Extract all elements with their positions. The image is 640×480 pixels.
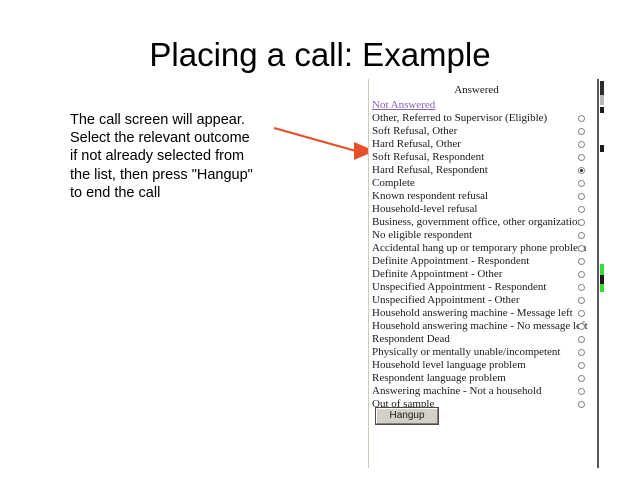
- instruction-line: the list, then press "Hangup": [70, 166, 285, 184]
- outcome-label: Definite Appointment - Other: [372, 268, 502, 281]
- outcome-row[interactable]: Household answering machine - Message le…: [369, 307, 598, 320]
- outcome-row[interactable]: Soft Refusal, Respondent: [369, 151, 598, 164]
- page-title: Placing a call: Example: [0, 36, 640, 74]
- scrollbar-mark: [600, 107, 604, 113]
- outcome-radio-button[interactable]: [578, 206, 585, 213]
- outcome-radio-button[interactable]: [578, 245, 585, 252]
- outcome-radio-button[interactable]: [578, 323, 585, 330]
- scrollbar-mark: [600, 145, 604, 152]
- outcome-row[interactable]: Respondent Dead: [369, 333, 598, 346]
- outcome-label: Accidental hang up or temporary phone pr…: [372, 242, 586, 255]
- outcome-radio-button[interactable]: [578, 232, 585, 239]
- outcome-radio-button[interactable]: [578, 128, 585, 135]
- outcome-radio-button[interactable]: [578, 336, 585, 343]
- outcome-radio-button[interactable]: [578, 388, 585, 395]
- outcome-row[interactable]: Hard Refusal, Respondent: [369, 164, 598, 177]
- outcome-row[interactable]: Unspecified Appointment - Respondent: [369, 281, 598, 294]
- outcome-label: Answering machine - Not a household: [372, 385, 542, 398]
- outcome-radio-button[interactable]: [578, 180, 585, 187]
- outcome-label: Household-level refusal: [372, 203, 477, 216]
- outcome-radio-button[interactable]: [578, 401, 585, 408]
- scrollbar-mark: [600, 95, 604, 105]
- outcome-label: Definite Appointment - Respondent: [372, 255, 529, 268]
- outcome-row[interactable]: Business, government office, other organ…: [369, 216, 598, 229]
- outcome-label: Respondent Dead: [372, 333, 450, 346]
- outcome-option-list[interactable]: Other, Referred to Supervisor (Eligible)…: [369, 112, 598, 411]
- outcome-radio-button[interactable]: [578, 297, 585, 304]
- instruction-line: to end the call: [70, 184, 285, 202]
- outcome-label: Unspecified Appointment - Respondent: [372, 281, 546, 294]
- outcome-radio-button[interactable]: [578, 193, 585, 200]
- scrollbar-mark: [600, 81, 604, 95]
- outcome-label: Known respondent refusal: [372, 190, 488, 203]
- outcome-row[interactable]: Definite Appointment - Other: [369, 268, 598, 281]
- outcome-label: Hard Refusal, Respondent: [372, 164, 488, 177]
- outcome-radio-button[interactable]: [578, 349, 585, 356]
- outcome-radio-button[interactable]: [578, 219, 585, 226]
- instruction-text-block: The call screen will appear. Select the …: [70, 111, 285, 202]
- outcome-row[interactable]: Known respondent refusal: [369, 190, 598, 203]
- outcome-row[interactable]: Answering machine - Not a household: [369, 385, 598, 398]
- outcome-label: Respondent language problem: [372, 372, 506, 385]
- outcome-radio-button[interactable]: [578, 362, 585, 369]
- outcome-row[interactable]: Hard Refusal, Other: [369, 138, 598, 151]
- outcome-label: Soft Refusal, Respondent: [372, 151, 484, 164]
- presentation-slide: Placing a call: Example The call screen …: [0, 0, 640, 480]
- outcome-row[interactable]: Physically or mentally unable/incompeten…: [369, 346, 598, 359]
- outcome-radio-button[interactable]: [578, 141, 585, 148]
- outcome-radio-button[interactable]: [578, 258, 585, 265]
- instruction-line: if not already selected from: [70, 147, 285, 165]
- call-screen-screenshot: Answered Not Answered Other, Referred to…: [368, 79, 599, 468]
- scrollbar-mark: [600, 284, 604, 292]
- scrollbar-mark: [600, 264, 604, 275]
- instruction-line: The call screen will appear.: [70, 111, 285, 129]
- outcome-label: Soft Refusal, Other: [372, 125, 457, 138]
- outcome-radio-button[interactable]: [578, 310, 585, 317]
- outcome-radio-button[interactable]: [578, 167, 585, 174]
- outcome-row[interactable]: Respondent language problem: [369, 372, 598, 385]
- outcome-label: Complete: [372, 177, 415, 190]
- outcome-radio-button[interactable]: [578, 154, 585, 161]
- outcome-label: Unspecified Appointment - Other: [372, 294, 520, 307]
- outcome-row[interactable]: Other, Referred to Supervisor (Eligible): [369, 112, 598, 125]
- outcome-label: Household answering machine - No message…: [372, 320, 588, 333]
- outcome-label: Physically or mentally unable/incompeten…: [372, 346, 560, 359]
- outcome-radio-button[interactable]: [578, 271, 585, 278]
- outcome-radio-button[interactable]: [578, 375, 585, 382]
- outcome-label: Other, Referred to Supervisor (Eligible): [372, 112, 547, 125]
- outcome-row[interactable]: Household level language problem: [369, 359, 598, 372]
- outcome-row[interactable]: No eligible respondent: [369, 229, 598, 242]
- outcome-row[interactable]: Complete: [369, 177, 598, 190]
- scrollbar-mark: [600, 275, 604, 284]
- outcome-row[interactable]: Accidental hang up or temporary phone pr…: [369, 242, 598, 255]
- not-answered-link[interactable]: Not Answered: [372, 99, 435, 111]
- outcome-label: Business, government office, other organ…: [372, 216, 583, 229]
- outcome-label: Household level language problem: [372, 359, 526, 372]
- outcome-label: Household answering machine - Message le…: [372, 307, 573, 320]
- scrollbar[interactable]: [600, 79, 610, 468]
- outcome-row[interactable]: Unspecified Appointment - Other: [369, 294, 598, 307]
- outcome-label: Hard Refusal, Other: [372, 138, 461, 151]
- outcome-radio-button[interactable]: [578, 284, 585, 291]
- outcome-label: No eligible respondent: [372, 229, 472, 242]
- outcome-row[interactable]: Household answering machine - No message…: [369, 320, 598, 333]
- instruction-line: Select the relevant outcome: [70, 129, 285, 147]
- outcome-row[interactable]: Household-level refusal: [369, 203, 598, 216]
- arrow-icon: [272, 118, 380, 166]
- outcome-row[interactable]: Soft Refusal, Other: [369, 125, 598, 138]
- outcome-row[interactable]: Definite Appointment - Respondent: [369, 255, 598, 268]
- answered-section-header: Answered: [369, 84, 584, 96]
- hangup-button[interactable]: Hangup: [376, 408, 438, 424]
- outcome-radio-button[interactable]: [578, 115, 585, 122]
